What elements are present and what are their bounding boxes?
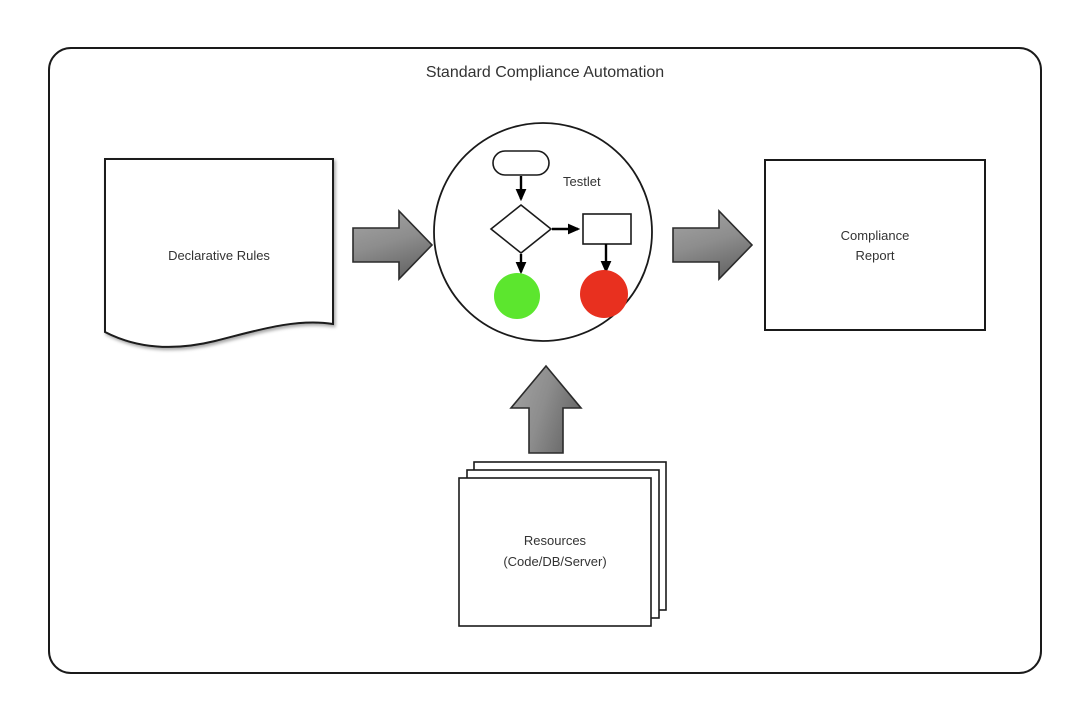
testlet-label: Testlet [563, 174, 601, 189]
diagram-root: Standard Compliance Automation Declarati… [0, 0, 1088, 712]
node-resources: Resources (Code/DB/Server) [459, 462, 666, 626]
page-title: Standard Compliance Automation [426, 64, 664, 81]
testlet-fail-indicator [580, 270, 628, 318]
testlet-start-node [493, 151, 549, 175]
resources-label-line2: (Code/DB/Server) [503, 554, 606, 569]
resources-stack-front [459, 478, 651, 626]
resources-label-line1: Resources [524, 533, 587, 548]
testlet-action-node [583, 214, 631, 244]
node-testlet: Testlet [434, 123, 652, 341]
compliance-report-shape [765, 160, 985, 330]
declarative-rules-label: Declarative Rules [168, 248, 270, 263]
compliance-report-label-line2: Report [855, 248, 894, 263]
node-compliance-report: Compliance Report [765, 160, 985, 330]
testlet-pass-indicator [494, 273, 540, 319]
compliance-report-label-line1: Compliance [841, 228, 910, 243]
